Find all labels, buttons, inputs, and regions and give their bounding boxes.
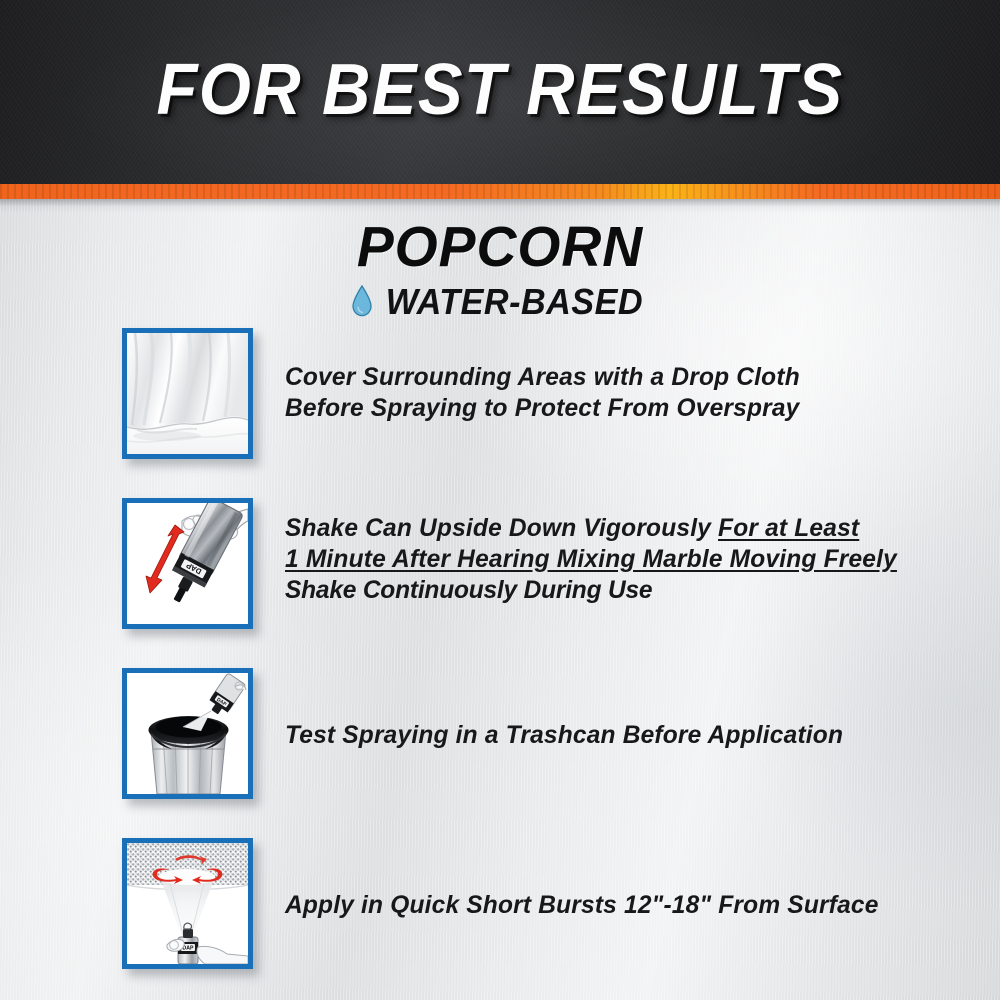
- test-spray-trashcan-thumbnail: DAP: [122, 668, 253, 799]
- step-caption: Cover Surrounding Areas with a Drop Clot…: [285, 362, 932, 424]
- step-line: Apply in Quick Short Bursts 12"-18" From…: [285, 890, 932, 921]
- page-title: FOR BEST RESULTS: [35, 50, 965, 130]
- step-caption: Test Spraying in a Trashcan Before Appli…: [285, 720, 932, 751]
- accent-bar-shadow: [0, 199, 1000, 213]
- steps-list: Cover Surrounding Areas with a Drop Clot…: [0, 328, 1000, 1000]
- drop-cloth-thumbnail: [122, 328, 253, 459]
- header-banner: FOR BEST RESULTS: [0, 0, 1000, 184]
- step-line-plain: Shake Can Upside Down Vigorously: [285, 514, 718, 542]
- trashcan-illustration: DAP: [127, 673, 248, 794]
- step-line: Shake Can Upside Down Vigorously For at …: [285, 513, 932, 544]
- step-line: Shake Continuously During Use: [285, 575, 932, 606]
- step-line-underlined: For at Least: [718, 514, 859, 542]
- step-item: DAP Test Spraying in a Trashcan Before A…: [0, 668, 1000, 838]
- brand-subtitle: WATER-BASED: [386, 283, 643, 321]
- infographic-root: FOR BEST RESULTS POPCORN WATER-BASED: [0, 0, 1000, 1000]
- ceiling-spray-illustration: DAP: [127, 843, 248, 964]
- shake-can-illustration: DAP: [127, 503, 248, 624]
- orange-accent-bar: [0, 184, 1000, 199]
- brand-subtitle-row: WATER-BASED: [0, 283, 1000, 321]
- step-caption: Shake Can Upside Down Vigorously For at …: [285, 513, 932, 606]
- step-line: 1 Minute After Hearing Mixing Marble Mov…: [285, 544, 932, 575]
- brand-lockup: POPCORN WATER-BASED: [0, 218, 1000, 321]
- water-droplet-icon: [350, 285, 374, 317]
- step-caption: Apply in Quick Short Bursts 12"-18" From…: [285, 890, 932, 921]
- svg-text:DAP: DAP: [183, 946, 194, 952]
- drop-cloth-illustration: [127, 333, 248, 454]
- step-item: Cover Surrounding Areas with a Drop Clot…: [0, 328, 1000, 498]
- step-line: Cover Surrounding Areas with a Drop Clot…: [285, 362, 932, 393]
- step-line: Test Spraying in a Trashcan Before Appli…: [285, 720, 932, 751]
- step-item: DAP Shake Can Upside Down Vigor: [0, 498, 1000, 668]
- spray-ceiling-thumbnail: DAP: [122, 838, 253, 969]
- step-line: Before Spraying to Protect From Overspra…: [285, 393, 932, 424]
- brand-name: POPCORN: [15, 218, 985, 276]
- step-item: DAP Apply in Quick Short Bursts 12"-18" …: [0, 838, 1000, 1000]
- shake-can-thumbnail: DAP: [122, 498, 253, 629]
